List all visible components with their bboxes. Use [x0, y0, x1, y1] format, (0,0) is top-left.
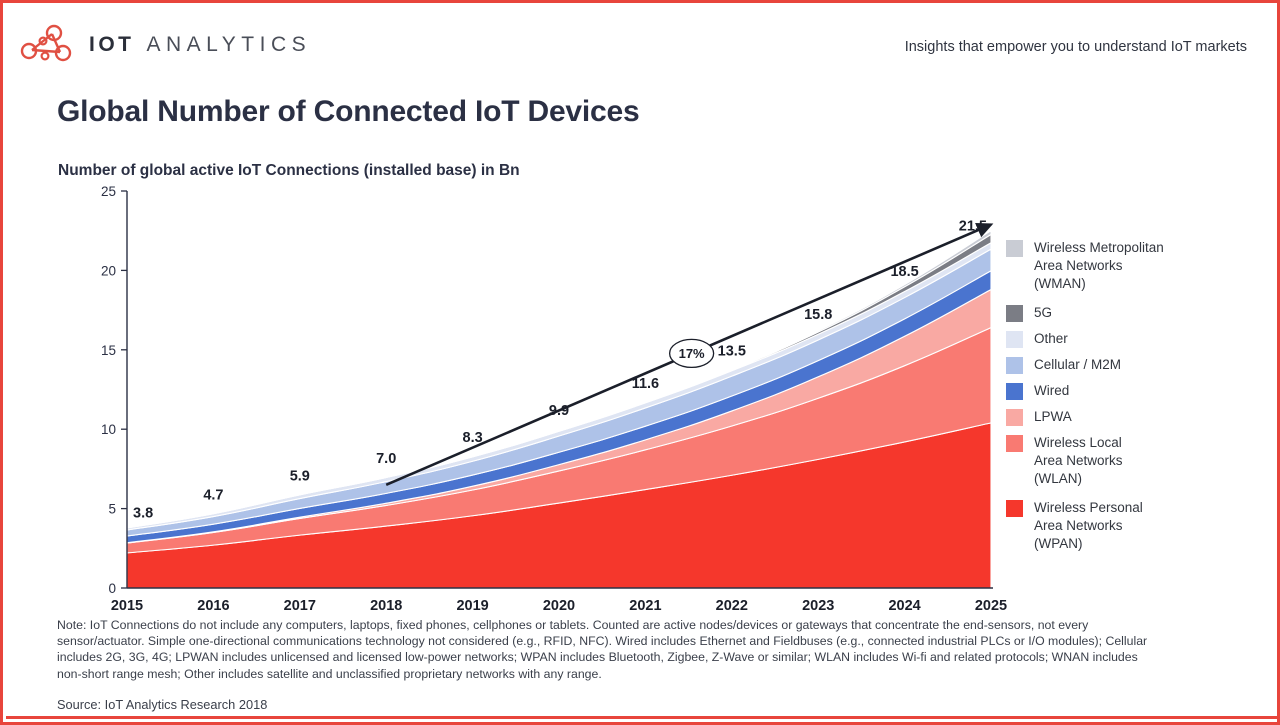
legend-label-5g: 5G [1034, 304, 1052, 322]
logo-text-iot: IOT [89, 33, 135, 57]
x-axis-label-2018: 2018 [370, 598, 402, 614]
legend-item-5g[interactable]: 5G [1006, 304, 1206, 322]
y-tick-label: 25 [101, 184, 116, 199]
footnote-source: Source: IoT Analytics Research 2018 [57, 697, 267, 712]
legend-label-wman: Wireless Metropolitan Area Networks (WMA… [1034, 239, 1164, 293]
legend-swatch-wman [1006, 240, 1023, 257]
legend-item-wired[interactable]: Wired [1006, 382, 1206, 400]
iot-network-logo-icon [19, 23, 75, 67]
y-tick-label: 20 [101, 263, 116, 278]
legend-swatch-5g [1006, 305, 1023, 322]
x-axis-label-2020: 2020 [543, 598, 575, 614]
legend-item-wman[interactable]: Wireless Metropolitan Area Networks (WMA… [1006, 239, 1206, 293]
x-axis-label-2023: 2023 [802, 598, 834, 614]
data-label-2022: 13.5 [718, 344, 746, 360]
brand-logo: IOT ANALYTICS [19, 23, 311, 67]
y-tick-label: 0 [108, 581, 116, 596]
y-tick-label: 5 [108, 502, 116, 517]
data-label-2018: 7.0 [376, 451, 396, 467]
x-axis-label-2015: 2015 [111, 598, 143, 614]
footnote-note: Note: IoT Connections do not include any… [57, 617, 1162, 682]
legend-label-wpan: Wireless Personal Area Networks (WPAN) [1034, 499, 1143, 553]
legend-label-lpwa: LPWA [1034, 408, 1072, 426]
legend-swatch-wired [1006, 383, 1023, 400]
legend-item-cellular[interactable]: Cellular / M2M [1006, 356, 1206, 374]
data-label-2016: 4.7 [203, 487, 223, 503]
x-axis-label-2021: 2021 [629, 598, 661, 614]
legend-swatch-wlan [1006, 435, 1023, 452]
legend-item-wpan[interactable]: Wireless Personal Area Networks (WPAN) [1006, 499, 1206, 553]
logo-text-analytics: ANALYTICS [147, 33, 312, 57]
legend-item-lpwa[interactable]: LPWA [1006, 408, 1206, 426]
x-axis-label-2016: 2016 [197, 598, 229, 614]
data-label-2017: 5.9 [290, 468, 310, 484]
bottom-accent-rule [6, 716, 1280, 719]
legend-swatch-wpan [1006, 500, 1023, 517]
cagr-value: 17% [679, 346, 705, 361]
y-tick-label: 15 [101, 343, 116, 358]
legend-swatch-other [1006, 331, 1023, 348]
y-tick-label: 10 [101, 422, 116, 437]
legend-item-other[interactable]: Other [1006, 330, 1206, 348]
header: IOT ANALYTICS Insights that empower you … [3, 3, 1277, 81]
x-axis-label-2024: 2024 [888, 598, 920, 614]
legend-label-other: Other [1034, 330, 1068, 348]
legend-label-cellular: Cellular / M2M [1034, 356, 1121, 374]
legend-swatch-cellular [1006, 357, 1023, 374]
data-label-2023: 15.8 [804, 307, 832, 323]
x-axis-label-2022: 2022 [716, 598, 748, 614]
legend-swatch-lpwa [1006, 409, 1023, 426]
legend-label-wired: Wired [1034, 382, 1069, 400]
legend-item-wlan[interactable]: Wireless Local Area Networks (WLAN) [1006, 434, 1206, 488]
x-axis-label-2017: 2017 [284, 598, 316, 614]
x-axis-label-2025: 2025 [975, 598, 1007, 614]
header-tagline: Insights that empower you to understand … [905, 39, 1247, 55]
chart-legend: Wireless Metropolitan Area Networks (WMA… [1006, 239, 1206, 561]
page-title: Global Number of Connected IoT Devices [57, 95, 640, 129]
slide-canvas: IOT ANALYTICS Insights that empower you … [0, 0, 1280, 725]
legend-label-wlan: Wireless Local Area Networks (WLAN) [1034, 434, 1123, 488]
data-label-2015: 3.8 [133, 506, 153, 522]
x-axis-label-2019: 2019 [456, 598, 488, 614]
